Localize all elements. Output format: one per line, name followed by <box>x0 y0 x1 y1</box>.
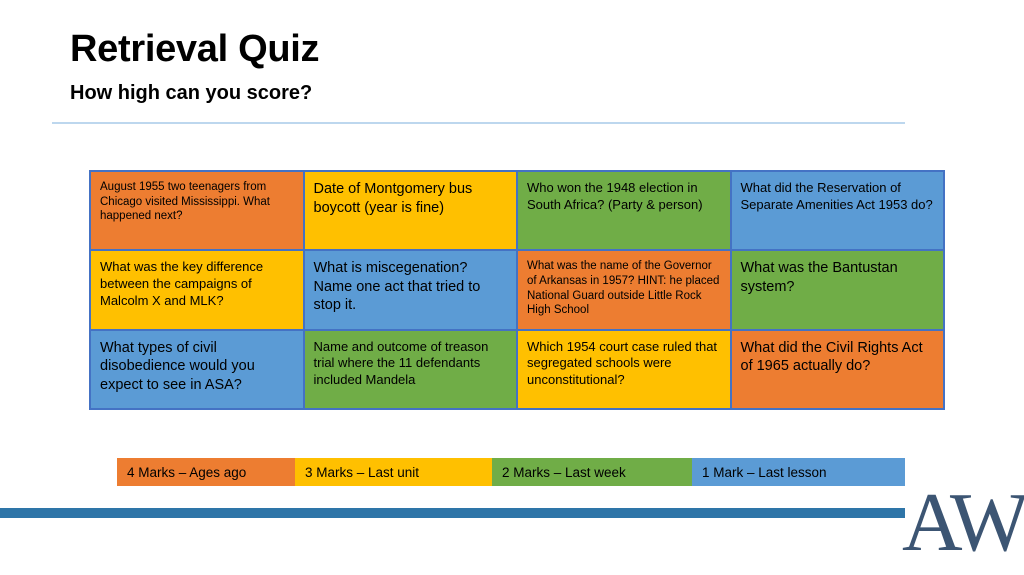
quiz-question-text: What did the Civil Rights Act of 1965 ac… <box>741 339 935 376</box>
quiz-cell-q4[interactable]: What did the Reservation of Separate Ame… <box>731 171 945 250</box>
header-divider <box>52 122 905 124</box>
aw-logo: AW <box>900 478 1024 570</box>
quiz-question-text: What types of civil disobedience would y… <box>100 339 294 395</box>
page-title: Retrieval Quiz <box>70 30 319 70</box>
footer-accent-bar <box>0 508 905 518</box>
quiz-question-text: What was the name of the Governor of Ark… <box>527 259 721 318</box>
quiz-question-text: Who won the 1948 election in South Afric… <box>527 180 721 213</box>
quiz-cell-q6[interactable]: What is miscegenation? Name one act that… <box>304 250 518 329</box>
quiz-question-text: Date of Montgomery bus boycott (year is … <box>314 180 508 217</box>
quiz-cell-q2[interactable]: Date of Montgomery bus boycott (year is … <box>304 171 518 250</box>
page-subtitle: How high can you score? <box>70 82 312 104</box>
quiz-cell-q5[interactable]: What was the key difference between the … <box>90 250 304 329</box>
quiz-question-text: What did the Reservation of Separate Ame… <box>741 180 935 213</box>
quiz-cell-q1[interactable]: August 1955 two teenagers from Chicago v… <box>90 171 304 250</box>
quiz-cell-q9[interactable]: What types of civil disobedience would y… <box>90 330 304 409</box>
quiz-question-grid: August 1955 two teenagers from Chicago v… <box>89 170 945 410</box>
quiz-cell-q7[interactable]: What was the name of the Governor of Ark… <box>517 250 731 329</box>
quiz-question-text: What was the key difference between the … <box>100 259 294 309</box>
legend-segment-2: 3 Marks – Last unit <box>295 458 492 486</box>
quiz-question-text: Which 1954 court case ruled that segrega… <box>527 339 721 389</box>
legend-segment-4: 1 Mark – Last lesson <box>692 458 905 486</box>
quiz-cell-q10[interactable]: Name and outcome of treason trial where … <box>304 330 518 409</box>
quiz-question-text: August 1955 two teenagers from Chicago v… <box>100 180 294 224</box>
svg-text:AW: AW <box>902 478 1024 569</box>
quiz-cell-q12[interactable]: What did the Civil Rights Act of 1965 ac… <box>731 330 945 409</box>
quiz-question-text: What was the Bantustan system? <box>741 259 935 296</box>
quiz-cell-q8[interactable]: What was the Bantustan system? <box>731 250 945 329</box>
quiz-question-text: What is miscegenation? Name one act that… <box>314 259 508 315</box>
marks-legend: 4 Marks – Ages ago3 Marks – Last unit2 M… <box>117 458 905 486</box>
quiz-question-text: Name and outcome of treason trial where … <box>314 339 508 389</box>
quiz-cell-q3[interactable]: Who won the 1948 election in South Afric… <box>517 171 731 250</box>
legend-segment-3: 2 Marks – Last week <box>492 458 692 486</box>
quiz-cell-q11[interactable]: Which 1954 court case ruled that segrega… <box>517 330 731 409</box>
legend-segment-1: 4 Marks – Ages ago <box>117 458 295 486</box>
